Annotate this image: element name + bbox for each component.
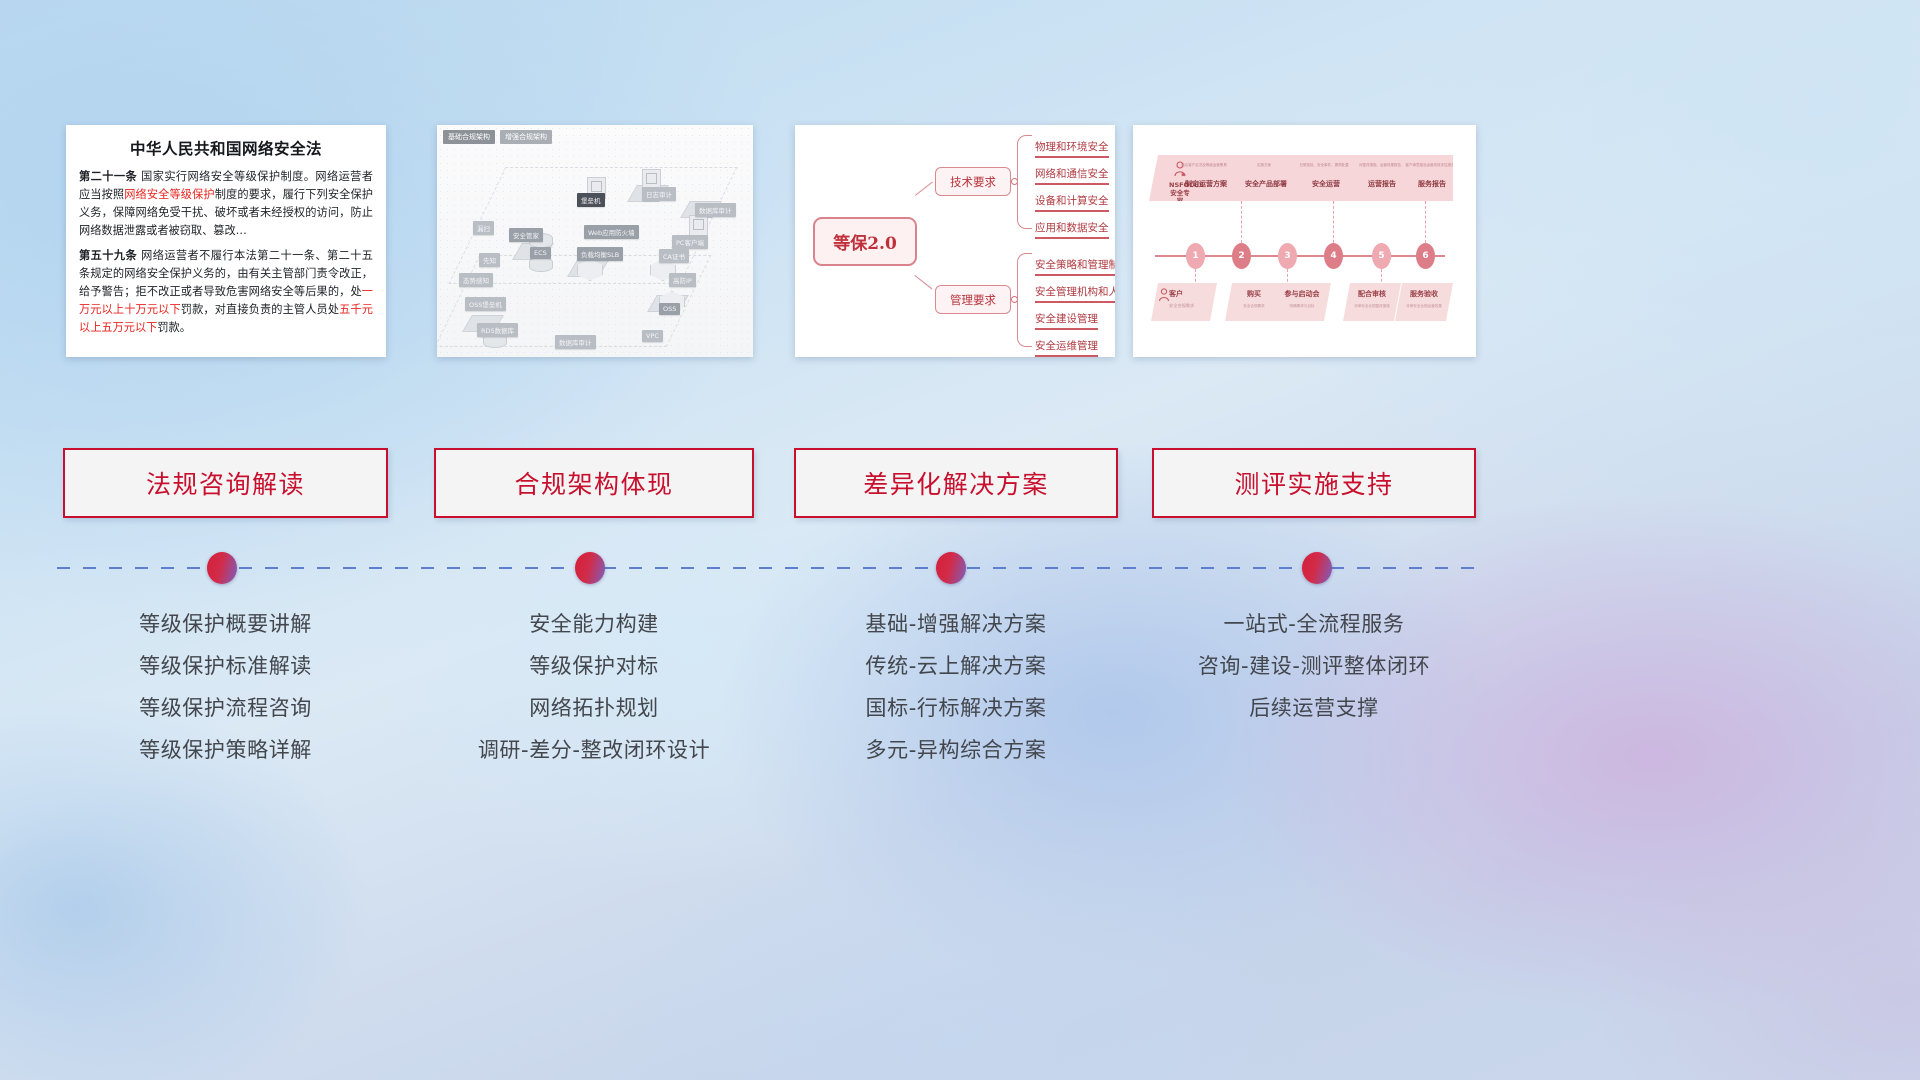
- timeline-lower-step: 参与启动会明确需求与目标: [1273, 283, 1331, 321]
- timeline-upper-sub: 对整改措施、运营效果报告: [1354, 163, 1407, 168]
- pill-compliance-architecture[interactable]: 合规架构体现: [434, 448, 754, 518]
- architecture-node: ECS: [530, 247, 551, 259]
- timeline-upper-sub: 实施方案: [1238, 163, 1291, 168]
- architecture-node: Web应用防火墙: [584, 225, 639, 239]
- detail-item: 调研-差分-整改闭环设计: [434, 729, 754, 771]
- architecture-node: VPC: [642, 330, 663, 342]
- architecture-node: 数据库审计: [555, 335, 596, 349]
- mindmap-branch-management: 管理要求: [935, 285, 1011, 314]
- timeline-marker-1[interactable]: [207, 552, 237, 584]
- detail-item: 基础-增强解决方案: [794, 603, 1118, 645]
- slide-stage: 中华人民共和国网络安全法 第二十一条 国家实行网络安全等级保护制度。网络运营者应…: [0, 0, 1920, 1080]
- mindmap-leaf: 安全运维管理: [1035, 338, 1098, 357]
- detail-item: 等级保护对标: [434, 645, 754, 687]
- timeline-upper-sub: 客户满意度及运营成效评估报告: [1404, 163, 1457, 168]
- timeline-lower-sub: 评审安全合规运营效果: [1399, 303, 1448, 308]
- database-icon-1: [529, 257, 553, 272]
- mindmap-leaf: 安全策略和管理制度: [1035, 257, 1115, 276]
- mindmap-leaf: 应用和数据安全: [1035, 220, 1109, 239]
- mindmap-root-node: 等保2.0: [813, 217, 917, 266]
- detail-column-architecture: 安全能力构建等级保护对标网络拓扑规划调研-差分-整改闭环设计: [434, 603, 754, 771]
- architecture-node: 负载均衡SLB: [577, 247, 623, 261]
- detail-item: 传统-云上解决方案: [794, 645, 1118, 687]
- timeline-step-node[interactable]: 4: [1324, 243, 1343, 269]
- timeline-stem: [1241, 201, 1243, 243]
- architecture-node: 日志审计: [642, 187, 676, 201]
- mindmap-bracket-technical: [1017, 135, 1032, 229]
- article-59-text-c: 罚款。: [157, 321, 191, 334]
- mindmap-leaf: 设备和计算安全: [1035, 193, 1109, 212]
- architecture-node: OSS堡垒机: [465, 297, 506, 311]
- article-59-label: 第五十九条: [79, 249, 137, 262]
- architecture-node: 安全管家: [509, 228, 543, 242]
- timeline-lower-caption: 服务验收: [1395, 289, 1453, 299]
- timeline-lower-step: 配合审核评审安全合规整改措施: [1343, 283, 1401, 321]
- detail-column-assessment: 一站式-全流程服务咨询-建设-测评整体闭环后续运营支撑: [1152, 603, 1476, 729]
- mindmap-diagram: 等保2.0 技术要求 管理要求 物理和环境安全网络和通信安全设备和计算安全应用和…: [795, 125, 1115, 357]
- timeline-lower-caption: 参与启动会: [1273, 289, 1331, 299]
- timeline-upper-sub: 结合客户实况及等级运营需具: [1178, 163, 1231, 168]
- timeline-marker-4[interactable]: [1302, 552, 1332, 584]
- timeline-lower-caption: 购买: [1225, 289, 1283, 299]
- mindmap-leaf: 网络和通信安全: [1035, 166, 1109, 185]
- card-cybersecurity-law[interactable]: 中华人民共和国网络安全法 第二十一条 国家实行网络安全等级保护制度。网络运营者应…: [66, 125, 386, 357]
- phase-pill-row: 法规咨询解读 合规架构体现 差异化解决方案 测评实施支持: [0, 448, 1920, 520]
- tab-enhanced-architecture[interactable]: 增强合规架构: [500, 130, 552, 144]
- law-text-block: 中华人民共和国网络安全法 第二十一条 国家实行网络安全等级保护制度。网络运营者应…: [66, 125, 386, 357]
- timeline-upper-caption: 制定运营方案: [1179, 179, 1233, 189]
- architecture-node: RDS数据库: [477, 323, 518, 337]
- pill-differentiated-solution[interactable]: 差异化解决方案: [794, 448, 1118, 518]
- article-21-label: 第二十一条: [79, 170, 137, 183]
- customer-caption: 客户: [1169, 289, 1217, 299]
- timeline-customer-block: 客户 安全合规需求: [1151, 283, 1217, 321]
- timeline-lower-sub: 安全合规需求: [1229, 303, 1278, 308]
- law-article-59: 第五十九条 网络运营者不履行本法第二十一条、第二十五条规定的网络安全保护义务的，…: [79, 247, 373, 338]
- timeline-stem: [1333, 201, 1335, 243]
- timeline-lower-caption: 配合审核: [1343, 289, 1401, 299]
- timeline-lower-sub: 明确需求与目标: [1277, 303, 1326, 308]
- detail-item: 等级保护概要讲解: [63, 603, 388, 645]
- timeline-upper-caption: 运营报告: [1355, 179, 1409, 189]
- timeline-stem: [1425, 201, 1427, 243]
- timeline-step-node[interactable]: 1: [1186, 243, 1205, 269]
- detail-column-regulation: 等级保护概要讲解等级保护标准解读等级保护流程咨询等级保护策略详解: [63, 603, 388, 771]
- detail-item: 咨询-建设-测评整体闭环: [1152, 645, 1476, 687]
- tab-basic-architecture[interactable]: 基础合规架构: [443, 130, 495, 144]
- architecture-node: 态势感知: [459, 273, 493, 287]
- timeline-upper-caption: 安全运营: [1299, 179, 1353, 189]
- timeline-step-node[interactable]: 6: [1416, 243, 1435, 269]
- timeline-upper-caption: 服务报告: [1405, 179, 1459, 189]
- architecture-node: PC客户端: [672, 235, 708, 249]
- timeline-upper-sub: 日常巡检、安全事件、漏洞处置: [1298, 163, 1351, 168]
- illustration-card-row: 中华人民共和国网络安全法 第二十一条 国家实行网络安全等级保护制度。网络运营者应…: [0, 125, 1920, 360]
- detail-item: 后续运营支撑: [1152, 687, 1476, 729]
- timeline-step-node[interactable]: 5: [1372, 243, 1391, 269]
- architecture-node: 高防IP: [669, 273, 696, 287]
- mindmap-bracket-management: [1017, 253, 1032, 347]
- detail-item: 等级保护标准解读: [63, 645, 388, 687]
- card-dengbao-mindmap[interactable]: 等保2.0 技术要求 管理要求 物理和环境安全网络和通信安全设备和计算安全应用和…: [795, 125, 1115, 357]
- law-article-21: 第二十一条 国家实行网络安全等级保护制度。网络运营者应当按照网络安全等级保护制度…: [79, 168, 373, 241]
- mindmap-branch-technical: 技术要求: [935, 167, 1011, 196]
- timeline-upper-band: NSFOCUS 安全专家 制定运营方案结合客户实况及等级运营需具安全产品部署实施…: [1149, 155, 1453, 201]
- mindmap-leaf: 安全建设管理: [1035, 311, 1098, 330]
- architecture-node: 漏扫: [473, 221, 494, 235]
- customer-sub: 安全合规需求: [1169, 303, 1217, 309]
- detail-item: 国标-行标解决方案: [794, 687, 1118, 729]
- detail-item: 等级保护策略详解: [63, 729, 388, 771]
- mindmap-leaf: 物理和环境安全: [1035, 139, 1109, 158]
- expert-role: 安全专家: [1169, 190, 1191, 206]
- detail-item: 等级保护流程咨询: [63, 687, 388, 729]
- timeline-upper-caption: 安全产品部署: [1239, 179, 1293, 189]
- detail-item: 安全能力构建: [434, 603, 754, 645]
- article-21-highlight: 网络安全等级保护: [124, 188, 215, 201]
- timeline-lower-sub: 评审安全合规整改措施: [1347, 303, 1396, 308]
- pill-regulation-consulting[interactable]: 法规咨询解读: [63, 448, 388, 518]
- architecture-tab-group[interactable]: 基础合规架构 增强合规架构: [443, 130, 552, 144]
- timeline-step-node[interactable]: 3: [1278, 243, 1297, 269]
- timeline-marker-3[interactable]: [936, 552, 966, 584]
- architecture-node: 数据库审计: [695, 203, 736, 217]
- architecture-node: CA证书: [659, 249, 689, 263]
- detail-item: 多元-异构综合方案: [794, 729, 1118, 771]
- architecture-node: OSS: [659, 303, 680, 315]
- mindmap-leaf: 安全管理机构和人员: [1035, 284, 1115, 303]
- timeline-marker-2[interactable]: [575, 552, 605, 584]
- card-service-timeline[interactable]: NSFOCUS 安全专家 制定运营方案结合客户实况及等级运营需具安全产品部署实施…: [1133, 125, 1476, 357]
- article-59-text-b: 罚款，对直接负责的主管人员处: [181, 303, 339, 316]
- timeline-step-node[interactable]: 2: [1232, 243, 1251, 269]
- detail-column-solution: 基础-增强解决方案传统-云上解决方案国标-行标解决方案多元-异构综合方案: [794, 603, 1118, 771]
- timeline-lower-step: 服务验收评审安全合规运营效果: [1395, 283, 1453, 321]
- server-icon-2: [689, 215, 708, 237]
- architecture-node: 堡垒机: [577, 193, 605, 207]
- service-timeline-diagram: NSFOCUS 安全专家 制定运营方案结合客户实况及等级运营需具安全产品部署实施…: [1133, 125, 1476, 357]
- pill-assessment-support[interactable]: 测评实施支持: [1152, 448, 1476, 518]
- mindmap-root-connector-bottom: [914, 275, 932, 290]
- detail-item: 一站式-全流程服务: [1152, 603, 1476, 645]
- mindmap-root-connector-top: [915, 181, 933, 196]
- architecture-node: 先知: [479, 253, 500, 267]
- dashed-progress-line: [57, 567, 1477, 569]
- detail-item: 网络拓扑规划: [434, 687, 754, 729]
- architecture-diagram: 基础合规架构 增强合规架构 态势: [437, 125, 753, 357]
- card-compliance-architecture[interactable]: 基础合规架构 增强合规架构 态势: [437, 125, 753, 357]
- law-title: 中华人民共和国网络安全法: [79, 137, 373, 159]
